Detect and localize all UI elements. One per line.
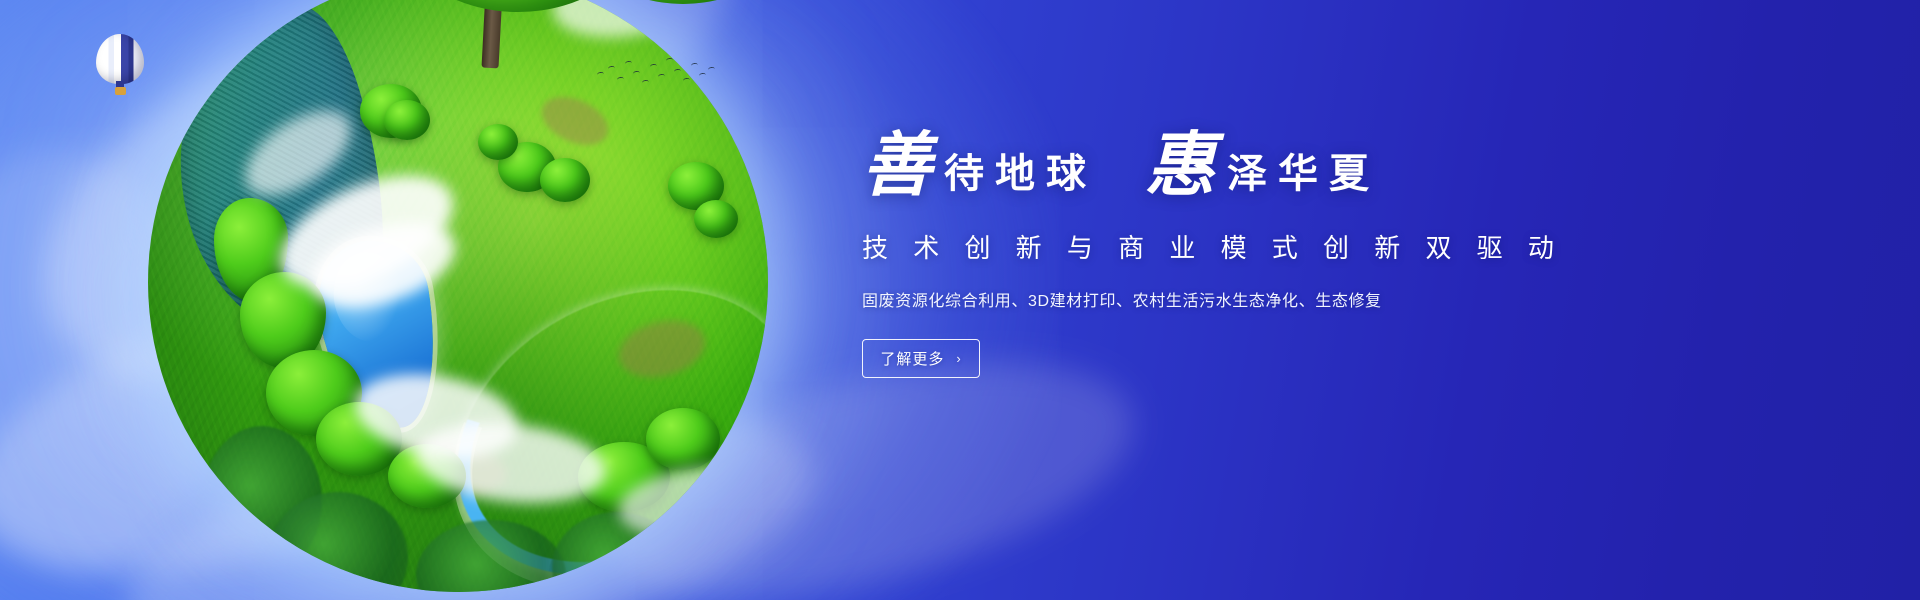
headline-secondary-1: 待地球 — [934, 154, 1097, 202]
learn-more-label: 了解更多 — [880, 348, 944, 369]
hero-copy-block: 善 待地球 惠 泽华夏 技 术 创 新 与 商 业 模 式 创 新 双 驱 动 … — [862, 132, 1582, 378]
hero-subtitle: 技 术 创 新 与 商 业 模 式 创 新 双 驱 动 — [862, 228, 1582, 265]
tree-canopy — [478, 124, 518, 160]
tree-canopy — [646, 408, 720, 470]
hero-description: 固废资源化综合利用、3D建材打印、农村生活污水生态净化、生态修复 — [862, 287, 1582, 311]
hero-banner: 善 待地球 惠 泽华夏 技 术 创 新 与 商 业 模 式 创 新 双 驱 动 … — [0, 0, 1920, 600]
tree-canopy — [694, 200, 738, 238]
headline-primary-1: 善 — [862, 132, 934, 202]
headline-primary-2: 惠 — [1145, 132, 1217, 202]
headline-secondary-2: 泽华夏 — [1217, 154, 1380, 202]
learn-more-button[interactable]: 了解更多 › — [862, 339, 980, 378]
tree-canopy — [384, 100, 430, 140]
chevron-right-icon: › — [956, 351, 961, 366]
tree-canopy — [540, 158, 590, 202]
bird-flock — [595, 52, 720, 92]
hero-headline: 善 待地球 惠 泽华夏 — [862, 132, 1582, 202]
balloon-basket — [115, 87, 126, 95]
balloon-envelope — [96, 34, 144, 84]
hot-air-balloon-icon — [96, 34, 144, 92]
